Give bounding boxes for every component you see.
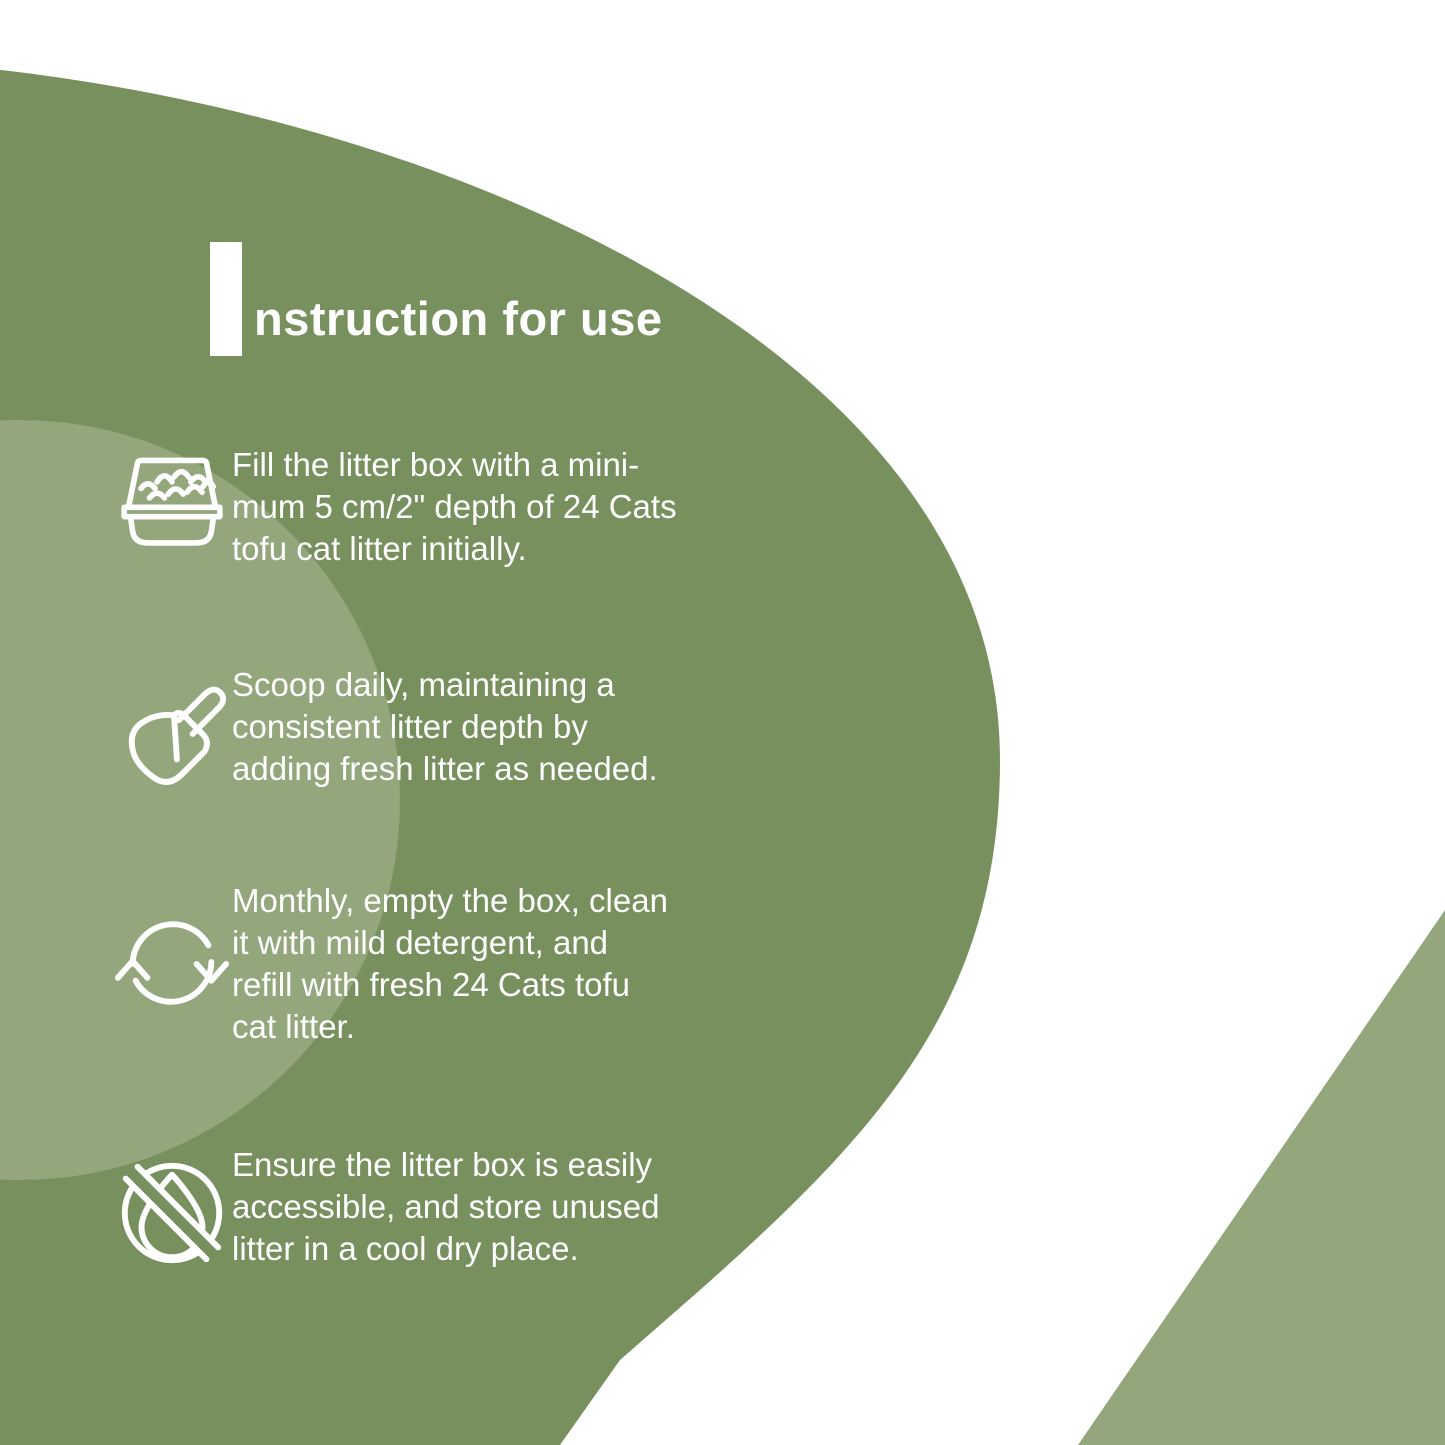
litter-box-icon xyxy=(112,440,232,552)
title-initial-letter xyxy=(210,242,242,356)
instruction-step: Monthly, empty the box, clean it with mi… xyxy=(112,880,687,1048)
title-text: nstruction for use xyxy=(254,295,663,342)
scoop-icon xyxy=(112,660,232,790)
instruction-step: Ensure the litter box is easily accessib… xyxy=(112,1140,687,1274)
instruction-step-text: Monthly, empty the box, clean it with mi… xyxy=(232,880,687,1048)
instruction-step: Fill the litter box with a mini- mum 5 c… xyxy=(112,440,687,570)
instruction-step-text: Fill the litter box with a mini- mum 5 c… xyxy=(232,440,687,570)
no-moisture-icon xyxy=(112,1140,232,1274)
page-title: nstruction for use xyxy=(210,228,663,356)
refresh-cycle-icon xyxy=(112,880,232,1024)
instruction-step-text: Ensure the litter box is easily accessib… xyxy=(232,1140,687,1270)
instruction-for-use-panel: nstruction for use xyxy=(0,0,1445,1445)
instruction-step-text: Scoop daily, maintaining a consistent li… xyxy=(232,660,687,790)
instruction-step: Scoop daily, maintaining a consistent li… xyxy=(112,660,687,790)
